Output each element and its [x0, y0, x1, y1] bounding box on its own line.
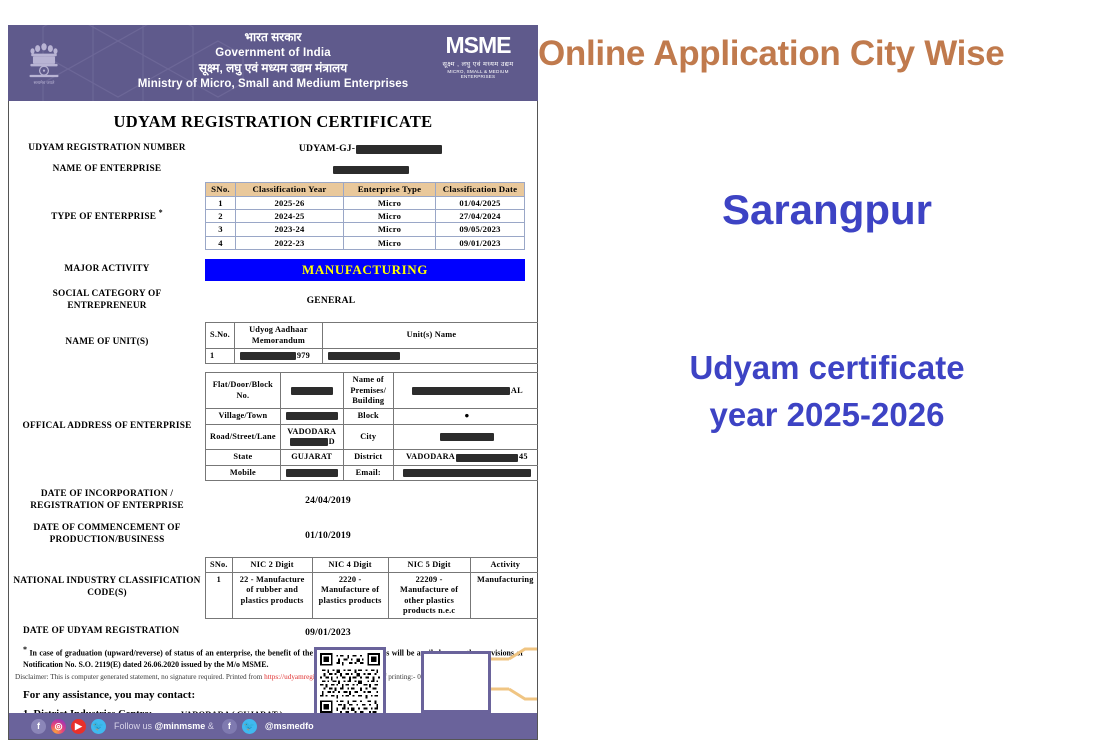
- cell-date: 27/04/2024: [436, 210, 525, 223]
- facebook-icon[interactable]: f: [222, 719, 237, 734]
- cell-sno: 2: [206, 210, 236, 223]
- col-unit-name: Unit(s) Name: [322, 323, 540, 349]
- cell-year: 2024-25: [236, 210, 344, 223]
- field-name-of-units: NAME OF UNIT(S) S.No. Udyog Aadhaar Memo…: [9, 322, 537, 364]
- cell-type: Micro: [344, 210, 436, 223]
- district-suffix: 45: [519, 452, 528, 461]
- value-mobile: [280, 465, 343, 480]
- table-row: 2 2024-25 Micro 27/04/2024: [206, 210, 525, 223]
- cell-date: 09/01/2023: [436, 236, 525, 249]
- col-nic5: NIC 5 Digit: [388, 557, 470, 572]
- value-flat-no: [280, 373, 343, 409]
- handle-msmedfo: @msmedfo: [265, 721, 314, 731]
- field-official-address: OFFICAL ADDRESS OF ENTERPRISE Flat/Door/…: [9, 372, 537, 481]
- col-nic4: NIC 4 Digit: [312, 557, 388, 572]
- certificate-body: UDYAM REGISTRATION CERTIFICATE UDYAM REG…: [8, 101, 538, 740]
- value-incorporation-date: 24/04/2019: [205, 495, 537, 506]
- redacted-premises: [412, 387, 510, 395]
- follow-prefix: Follow us: [114, 721, 155, 731]
- redacted-uam: [240, 352, 296, 360]
- cell-activity: Manufacturing: [470, 572, 540, 618]
- handle-minmsme: @minmsme: [155, 721, 206, 731]
- value-road: VADODARA D: [280, 424, 343, 450]
- facebook-icon[interactable]: f: [31, 719, 46, 734]
- col-classification-year: Classification Year: [236, 183, 344, 197]
- twitter-icon[interactable]: 🐦: [91, 719, 106, 734]
- field-registration-number: UDYAM REGISTRATION NUMBER UDYAM-GJ-: [9, 143, 537, 155]
- col-uam: Udyog Aadhaar Memorandum: [234, 323, 322, 349]
- col-sno: SNo.: [206, 183, 236, 197]
- nic-table: SNo. NIC 2 Digit NIC 4 Digit NIC 5 Digit…: [205, 557, 541, 620]
- table-row: 3 2023-24 Micro 09/05/2023: [206, 223, 525, 236]
- msme-logo-hindi: सूक्ष्म , लघु एवं मध्यम उद्यम: [430, 59, 526, 68]
- label-commencement-date: DATE OF COMMENCEMENT OF PRODUCTION/BUSIN…: [9, 523, 205, 546]
- cell-type: Micro: [344, 223, 436, 236]
- qr-code[interactable]: [314, 647, 386, 719]
- label-email: Email:: [343, 465, 393, 480]
- label-city: City: [343, 424, 393, 450]
- follow-amp: &: [205, 721, 214, 731]
- label-enterprise-type-star: *: [159, 208, 163, 217]
- label-state: State: [206, 450, 281, 465]
- col-enterprise-type: Enterprise Type: [344, 183, 436, 197]
- disclaimer-prefix: Disclaimer: This is computer generated s…: [15, 673, 264, 681]
- road-line2: D: [329, 437, 335, 446]
- cell-unit-name: [322, 348, 540, 363]
- value-city: [393, 424, 540, 450]
- redacted-registration-number: [356, 145, 442, 154]
- label-official-address: OFFICAL ADDRESS OF ENTERPRISE: [9, 421, 205, 433]
- cell-sno: 3: [206, 223, 236, 236]
- label-road: Road/Street/Lane: [206, 424, 281, 450]
- promo-subtitle-line-1: Udyam certificate: [538, 345, 1116, 392]
- cell-sno: 4: [206, 236, 236, 249]
- follow-us-text: Follow us @minmsme &: [114, 721, 214, 731]
- cell-nic2: 22 - Manufacture of rubber and plastics …: [232, 572, 312, 618]
- cell-sno: 1: [206, 196, 236, 209]
- value-commencement-date: 01/10/2019: [205, 530, 537, 541]
- msme-logo-mark: MSME: [430, 34, 526, 57]
- table-row: 4 2022-23 Micro 09/01/2023: [206, 236, 525, 249]
- label-enterprise-type: TYPE OF ENTERPRISE *: [9, 208, 205, 224]
- cell-date: 09/05/2023: [436, 223, 525, 236]
- social-footer-bar: f ◎ ▶ 🐦 Follow us @minmsme & f 🐦 @msmedf…: [9, 713, 537, 739]
- promo-subtitle: Udyam certificate year 2025-2026: [538, 345, 1116, 439]
- label-udyam-registration-date: DATE OF UDYAM REGISTRATION: [9, 626, 205, 638]
- col-sno: SNo.: [206, 557, 233, 572]
- udyam-certificate: सत्यमेव जयते भारत सरकार Government of In…: [8, 25, 538, 740]
- table-row: Road/Street/Lane VADODARA D City: [206, 424, 541, 450]
- table-header-row: SNo. Classification Year Enterprise Type…: [206, 183, 525, 197]
- cell-sno: 1: [206, 348, 235, 363]
- promo-city-name: Sarangpur: [538, 186, 1116, 234]
- promo-title: Online Application City Wise: [538, 34, 1116, 74]
- district-value: VADODARA: [406, 452, 455, 461]
- redacted-district: [456, 454, 518, 462]
- table-row: Flat/Door/Block No. Name of Premises/ Bu…: [206, 373, 541, 409]
- redacted-flat-no: [291, 387, 333, 395]
- label-mobile: Mobile: [206, 465, 281, 480]
- ministry-english: Ministry of Micro, Small and Medium Ente…: [8, 77, 538, 92]
- table-row: 1 22 - Manufacture of rubber and plastic…: [206, 572, 541, 618]
- value-registration-number: UDYAM-GJ-: [205, 143, 537, 154]
- label-incorporation-date: DATE OF INCORPORATION / REGISTRATION OF …: [9, 489, 205, 512]
- redacted-mobile: [286, 469, 338, 477]
- certificate-title: UDYAM REGISTRATION CERTIFICATE: [9, 101, 537, 141]
- col-nic2: NIC 2 Digit: [232, 557, 312, 572]
- signature-box: [421, 651, 491, 713]
- cell-type: Micro: [344, 236, 436, 249]
- label-registration-number: UDYAM REGISTRATION NUMBER: [9, 143, 205, 155]
- uam-suffix: 979: [297, 351, 310, 360]
- cell-nic4: 2220 - Manufacture of plastics products: [312, 572, 388, 618]
- label-enterprise-type-text: TYPE OF ENTERPRISE: [51, 212, 156, 222]
- table-row: Village/Town Block ●: [206, 409, 541, 424]
- value-block: ●: [393, 409, 540, 424]
- instagram-icon[interactable]: ◎: [51, 719, 66, 734]
- label-nic-codes: NATIONAL INDUSTRY CLASSIFICATION CODE(S): [9, 576, 205, 599]
- redacted-village: [286, 412, 338, 420]
- label-name-of-units: NAME OF UNIT(S): [9, 337, 205, 349]
- field-incorporation-date: DATE OF INCORPORATION / REGISTRATION OF …: [9, 489, 537, 512]
- cell-type: Micro: [344, 196, 436, 209]
- redacted-email: [403, 469, 531, 477]
- label-block: Block: [343, 409, 393, 424]
- label-major-activity: MAJOR ACTIVITY: [9, 264, 205, 276]
- msme-logo: MSME सूक्ष्म , लघु एवं मध्यम उद्यम MICRO…: [430, 34, 526, 79]
- value-village: [280, 409, 343, 424]
- visit-links: Visit : www.msme.gov.in ; www.dcmsme.gov…: [9, 739, 537, 753]
- label-district: District: [343, 450, 393, 465]
- cell-uam: 979: [234, 348, 322, 363]
- field-commencement-date: DATE OF COMMENCEMENT OF PRODUCTION/BUSIN…: [9, 523, 537, 546]
- col-classification-date: Classification Date: [436, 183, 525, 197]
- twitter-icon[interactable]: 🐦: [242, 719, 257, 734]
- value-district: VADODARA45: [393, 450, 540, 465]
- cell-date: 01/04/2025: [436, 196, 525, 209]
- table-row: 1 2025-26 Micro 01/04/2025: [206, 196, 525, 209]
- table-row: 1 979: [206, 348, 541, 363]
- redacted-city: [440, 433, 494, 441]
- table-row: Mobile Email:: [206, 465, 541, 480]
- label-flat-no: Flat/Door/Block No.: [206, 373, 281, 409]
- value-state: GUJARAT: [280, 450, 343, 465]
- cell-year: 2023-24: [236, 223, 344, 236]
- value-premises: AL: [393, 373, 540, 409]
- value-email: [393, 465, 540, 480]
- promo-subtitle-line-2: year 2025-2026: [538, 392, 1116, 439]
- label-premises: Name of Premises/ Building: [343, 373, 393, 409]
- page-root: सत्यमेव जयते भारत सरकार Government of In…: [0, 0, 1116, 753]
- field-social-category: SOCIAL CATEGORY OF ENTREPRENEUR GENERAL: [9, 289, 537, 312]
- col-activity: Activity: [470, 557, 540, 572]
- promo-panel: Online Application City Wise Sarangpur U…: [538, 0, 1116, 753]
- registration-number-prefix: UDYAM-GJ-: [299, 143, 355, 154]
- youtube-icon[interactable]: ▶: [71, 719, 86, 734]
- table-header-row: S.No. Udyog Aadhaar Memorandum Unit(s) N…: [206, 323, 541, 349]
- redacted-road: [290, 438, 328, 446]
- value-social-category: GENERAL: [205, 295, 537, 306]
- units-table: S.No. Udyog Aadhaar Memorandum Unit(s) N…: [205, 322, 541, 364]
- label-social-category: SOCIAL CATEGORY OF ENTREPRENEUR: [9, 289, 205, 312]
- redacted-enterprise-name: [333, 166, 409, 174]
- field-nic-codes: NATIONAL INDUSTRY CLASSIFICATION CODE(S)…: [9, 557, 537, 620]
- handle-msmedfo-text: @msmedfo: [265, 721, 314, 731]
- address-table: Flat/Door/Block No. Name of Premises/ Bu…: [205, 372, 541, 481]
- certificate-banner: सत्यमेव जयते भारत सरकार Government of In…: [8, 25, 538, 101]
- col-sno: S.No.: [206, 323, 235, 349]
- road-line1: VADODARA: [287, 427, 336, 436]
- cell-sno: 1: [206, 572, 233, 618]
- cell-year: 2025-26: [236, 196, 344, 209]
- label-village: Village/Town: [206, 409, 281, 424]
- premises-suffix: AL: [511, 386, 523, 395]
- cell-year: 2022-23: [236, 236, 344, 249]
- table-header-row: SNo. NIC 2 Digit NIC 4 Digit NIC 5 Digit…: [206, 557, 541, 572]
- msme-logo-english: MICRO, SMALL & MEDIUM ENTERPRISES: [430, 69, 526, 79]
- enterprise-type-table: SNo. Classification Year Enterprise Type…: [205, 182, 525, 250]
- table-row: State GUJARAT District VADODARA45: [206, 450, 541, 465]
- field-enterprise-name: NAME OF ENTERPRISE: [9, 164, 537, 176]
- field-major-activity: MAJOR ACTIVITY MANUFACTURING: [9, 259, 537, 281]
- field-enterprise-type: TYPE OF ENTERPRISE * SNo. Classification…: [9, 182, 537, 250]
- redacted-unit-name: [328, 352, 400, 360]
- cell-nic5: 22209 - Manufacture of other plastics pr…: [388, 572, 470, 618]
- value-enterprise-name: [205, 164, 537, 175]
- label-enterprise-name: NAME OF ENTERPRISE: [9, 164, 205, 176]
- value-major-activity: MANUFACTURING: [205, 259, 525, 281]
